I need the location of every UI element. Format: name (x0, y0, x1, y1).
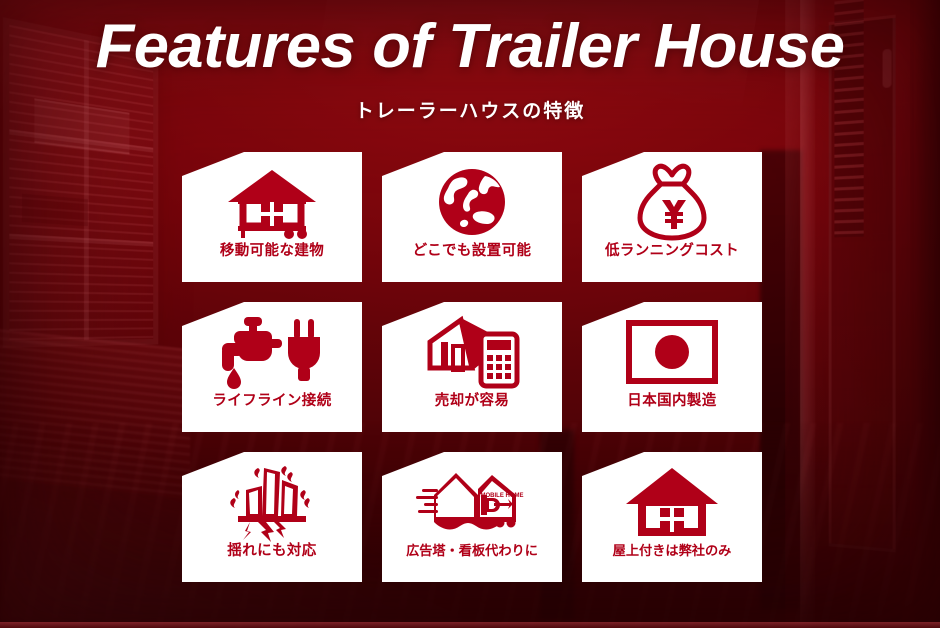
feature-card-label: 日本国内製造 (627, 394, 716, 409)
truck-icon-text: MOBILE HOME (481, 493, 524, 499)
feature-card[interactable]: 移動可能な建物 (182, 152, 362, 282)
feature-card-label: ライフライン接続 (212, 394, 331, 409)
feature-card[interactable]: 揺れにも対応 (182, 452, 362, 582)
feature-card[interactable]: 売却が容易 (382, 302, 562, 432)
house-and-calculator-icon (382, 310, 562, 394)
feature-card-label: 屋上付きは弊社のみ (613, 544, 732, 557)
feature-card[interactable]: ライフライン接続 (182, 302, 362, 432)
house-on-wheels-icon (182, 160, 362, 244)
page-title: Features of Trailer House (0, 16, 940, 78)
japan-flag-icon (582, 310, 762, 394)
shaking-buildings-icon (182, 460, 362, 544)
poster-stage: Features of Trailer House トレーラーハウスの特徴 (0, 0, 940, 628)
house-icon (582, 460, 762, 544)
feature-card[interactable]: 日本国内製造 (582, 302, 762, 432)
feature-card[interactable]: 低ランニングコスト (582, 152, 762, 282)
feature-card[interactable]: MOBILE HOME 広告塔・看板代わりに (382, 452, 562, 582)
feature-card-label: どこでも設置可能 (413, 244, 532, 259)
feature-card-grid: 移動可能な建物 どこでも設置可能 (182, 152, 762, 582)
feature-card-label: 広告塔・看板代わりに (406, 544, 538, 557)
faucet-and-plug-icon (182, 310, 362, 394)
feature-card[interactable]: 屋上付きは弊社のみ (582, 452, 762, 582)
bottom-edge-line (0, 622, 940, 628)
page-subtitle: トレーラーハウスの特徴 (0, 96, 940, 123)
header: Features of Trailer House トレーラーハウスの特徴 (0, 0, 940, 140)
feature-card-label: 低ランニングコスト (605, 244, 739, 259)
feature-card[interactable]: どこでも設置可能 (382, 152, 562, 282)
globe-icon (382, 160, 562, 244)
money-bag-yen-icon (582, 160, 762, 244)
feature-card-label: 売却が容易 (435, 394, 510, 409)
mobile-home-truck-icon: MOBILE HOME (382, 460, 562, 544)
feature-card-label: 移動可能な建物 (220, 244, 324, 259)
feature-card-label: 揺れにも対応 (227, 544, 316, 559)
